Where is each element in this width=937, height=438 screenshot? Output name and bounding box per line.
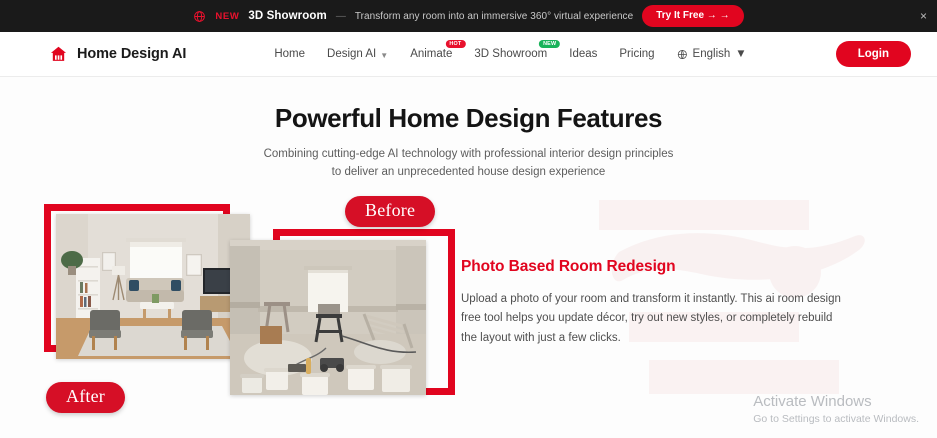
promo-separator: —: [336, 11, 346, 22]
nav-label: 3D Showroom: [474, 48, 547, 60]
house-logo-icon: [48, 44, 69, 65]
hero-subtitle: Combining cutting-edge AI technology wit…: [0, 146, 937, 182]
before-photo: [230, 240, 426, 395]
hero-subtitle-line2: to deliver an unprecedented house design…: [332, 166, 606, 178]
nav-item-home[interactable]: Home: [274, 48, 305, 60]
login-button[interactable]: Login: [836, 41, 911, 67]
after-label-badge: After: [46, 382, 125, 413]
main-nav: Home Design AI ▼ Animate HOT 3D Showroom…: [274, 48, 746, 60]
feature-title: Photo Based Room Redesign: [461, 258, 841, 276]
globe-icon: [677, 49, 688, 60]
vr-360-icon: [193, 10, 206, 23]
hero-subtitle-line1: Combining cutting-edge AI technology wit…: [264, 148, 674, 160]
before-label-badge: Before: [345, 196, 435, 227]
nav-label: Ideas: [569, 48, 597, 60]
site-header: Home Design AI Home Design AI ▼ Animate …: [0, 32, 937, 77]
after-photo: [56, 214, 250, 359]
promo-new-tag: NEW: [215, 11, 239, 22]
before-photo-card[interactable]: [230, 229, 455, 401]
chevron-down-icon: ▼: [380, 51, 388, 60]
promo-banner: NEW 3D Showroom — Transform any room int…: [0, 0, 937, 32]
badge-hot: HOT: [445, 40, 465, 48]
brand-logo[interactable]: Home Design AI: [48, 44, 186, 65]
chevron-down-icon: ▼: [735, 48, 746, 60]
hero-section: Powerful Home Design Features Combining …: [0, 77, 937, 182]
nav-item-animate[interactable]: Animate HOT: [410, 48, 452, 60]
watermark-title: Activate Windows: [753, 393, 919, 412]
watermark-subtitle: Go to Settings to activate Windows.: [753, 412, 919, 426]
nav-item-3d-showroom[interactable]: 3D Showroom NEW: [474, 48, 547, 60]
nav-label: Home: [274, 48, 305, 60]
nav-item-pricing[interactable]: Pricing: [619, 48, 654, 60]
brand-name: Home Design AI: [77, 46, 186, 62]
after-photo-card[interactable]: [44, 204, 250, 359]
feature-text-block: Photo Based Room Redesign Upload a photo…: [461, 258, 841, 349]
promo-banner-content: NEW 3D Showroom — Transform any room int…: [193, 5, 743, 27]
nav-item-design-ai[interactable]: Design AI ▼: [327, 48, 388, 60]
feature-description: Upload a photo of your room and transfor…: [461, 290, 841, 349]
nav-label: Animate: [410, 48, 452, 60]
before-after-gallery: Before After: [44, 204, 454, 419]
language-label: English: [693, 48, 731, 60]
promo-title: 3D Showroom: [248, 10, 326, 22]
page-root: NEW 3D Showroom — Transform any room int…: [0, 0, 937, 438]
badge-new: NEW: [539, 40, 560, 48]
close-icon[interactable]: ×: [920, 10, 927, 22]
nav-label: Pricing: [619, 48, 654, 60]
nav-label: Design AI: [327, 48, 376, 60]
promo-description: Transform any room into an immersive 360…: [355, 11, 633, 22]
windows-activation-watermark: Activate Windows Go to Settings to activ…: [753, 393, 919, 426]
nav-item-ideas[interactable]: Ideas: [569, 48, 597, 60]
page-title: Powerful Home Design Features: [0, 103, 937, 134]
try-it-free-button[interactable]: Try It Free → →: [642, 5, 743, 27]
language-selector[interactable]: English ▼: [677, 48, 747, 60]
